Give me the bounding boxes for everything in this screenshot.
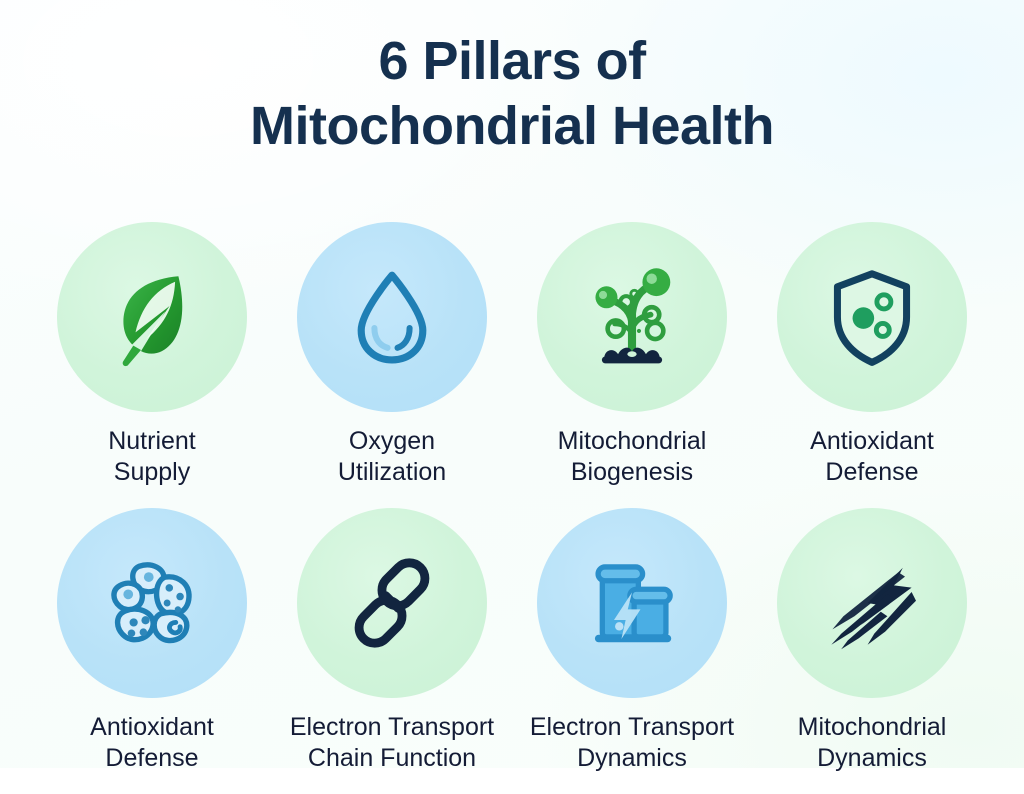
pillar-item-mitochondrial-dynamics[interactable]: Mitochondrial Dynamics (752, 508, 992, 794)
sprouting-plant-icon (574, 259, 690, 375)
pillar-label: Mitochondrial Biogenesis (558, 426, 707, 488)
title-line-1: 6 Pillars of (0, 34, 1024, 88)
pillar-item-mitochondrial-biogenesis[interactable]: Mitochondrial Biogenesis (512, 222, 752, 508)
pillar-item-electron-transport-chain[interactable]: Electron Transport Chain Function (272, 508, 512, 794)
icon-badge-circle (57, 508, 247, 698)
battery-cells-icon (579, 550, 685, 656)
pillar-label: Oxygen Utilization (338, 426, 446, 488)
pillar-item-antioxidant-defense-cells[interactable]: Antioxidant Defense (32, 508, 272, 794)
page-title: 6 Pillars of Mitochondrial Health (0, 34, 1024, 153)
pillar-item-electron-transport-dynamics[interactable]: Electron Transport Dynamics (512, 508, 752, 794)
chain-link-icon (340, 551, 444, 655)
shield-icon (818, 263, 926, 371)
icon-badge-circle (297, 222, 487, 412)
title-line-2: Mitochondrial Health (0, 99, 1024, 153)
pillar-label: Antioxidant Defense (90, 712, 214, 774)
pillar-label: Nutrient Supply (108, 426, 196, 488)
icon-badge-circle (57, 222, 247, 412)
icon-badge-circle (777, 508, 967, 698)
icon-badge-circle (777, 222, 967, 412)
icon-badge-circle (537, 222, 727, 412)
pillar-grid: Nutrient Supply Oxygen Utilization (32, 222, 992, 794)
water-droplet-icon (337, 262, 447, 372)
pillar-item-nutrient-supply[interactable]: Nutrient Supply (32, 222, 272, 508)
pillar-label: Electron Transport Dynamics (530, 712, 734, 774)
motion-arrow-icon (817, 548, 927, 658)
pillar-label: Mitochondrial Dynamics (798, 712, 947, 774)
pillar-item-oxygen-utilization[interactable]: Oxygen Utilization (272, 222, 512, 508)
pillar-item-antioxidant-defense-shield[interactable]: Antioxidant Defense (752, 222, 992, 508)
icon-badge-circle (297, 508, 487, 698)
leaf-icon (97, 262, 207, 372)
pillar-label: Antioxidant Defense (810, 426, 934, 488)
cell-cluster-icon (98, 549, 206, 657)
pillar-label: Electron Transport Chain Function (290, 712, 494, 774)
infographic-canvas: 6 Pillars of Mitochondrial Health (0, 0, 1024, 768)
icon-badge-circle (537, 508, 727, 698)
